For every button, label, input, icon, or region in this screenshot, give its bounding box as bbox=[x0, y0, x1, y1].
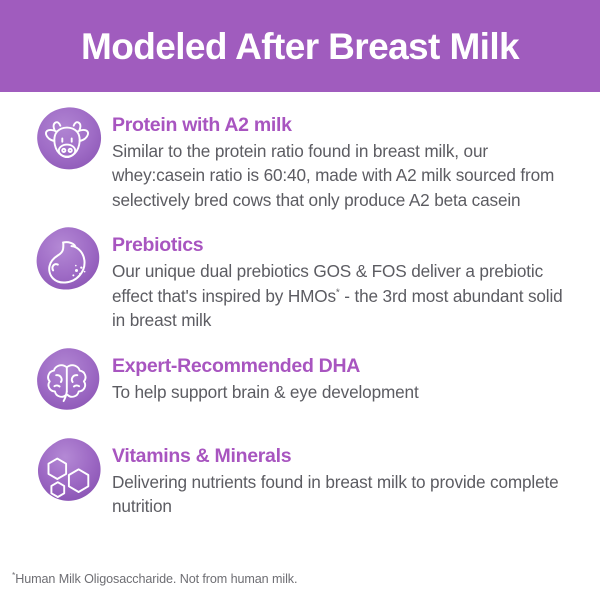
feature-text-protein: Protein with A2 milk Similar to the prot… bbox=[112, 108, 572, 212]
hexagons-icon bbox=[28, 435, 106, 513]
feature-item-vitamins: Vitamins & Minerals Delivering nutrients… bbox=[28, 439, 572, 519]
page-title: Modeled After Breast Milk bbox=[81, 28, 519, 65]
feature-text-prebiotics: Prebiotics Our unique dual prebiotics GO… bbox=[112, 228, 572, 332]
cow-icon bbox=[28, 104, 106, 182]
feature-item-protein: Protein with A2 milk Similar to the prot… bbox=[28, 108, 572, 212]
feature-title: Prebiotics bbox=[112, 234, 572, 257]
feature-title: Protein with A2 milk bbox=[112, 114, 572, 137]
feature-text-dha: Expert-Recommended DHA To help support b… bbox=[112, 349, 572, 404]
feature-body: Our unique dual prebiotics GOS & FOS del… bbox=[112, 259, 572, 332]
feature-body: Delivering nutrients found in breast mil… bbox=[112, 470, 572, 519]
brain-icon bbox=[28, 345, 106, 423]
feature-title: Vitamins & Minerals bbox=[112, 445, 572, 468]
feature-body: Similar to the protein ratio found in br… bbox=[112, 139, 572, 212]
feature-item-dha: Expert-Recommended DHA To help support b… bbox=[28, 349, 572, 423]
feature-item-prebiotics: Prebiotics Our unique dual prebiotics GO… bbox=[28, 228, 572, 332]
feature-body: To help support brain & eye development bbox=[112, 380, 572, 404]
page-header-banner: Modeled After Breast Milk bbox=[0, 0, 600, 92]
feature-text-vitamins: Vitamins & Minerals Delivering nutrients… bbox=[112, 439, 572, 519]
feature-title: Expert-Recommended DHA bbox=[112, 355, 572, 378]
footnote: *Human Milk Oligosaccharide. Not from hu… bbox=[12, 572, 297, 586]
stomach-icon bbox=[28, 224, 106, 302]
feature-list: Protein with A2 milk Similar to the prot… bbox=[0, 92, 600, 518]
footnote-text: Human Milk Oligosaccharide. Not from hum… bbox=[15, 572, 297, 586]
